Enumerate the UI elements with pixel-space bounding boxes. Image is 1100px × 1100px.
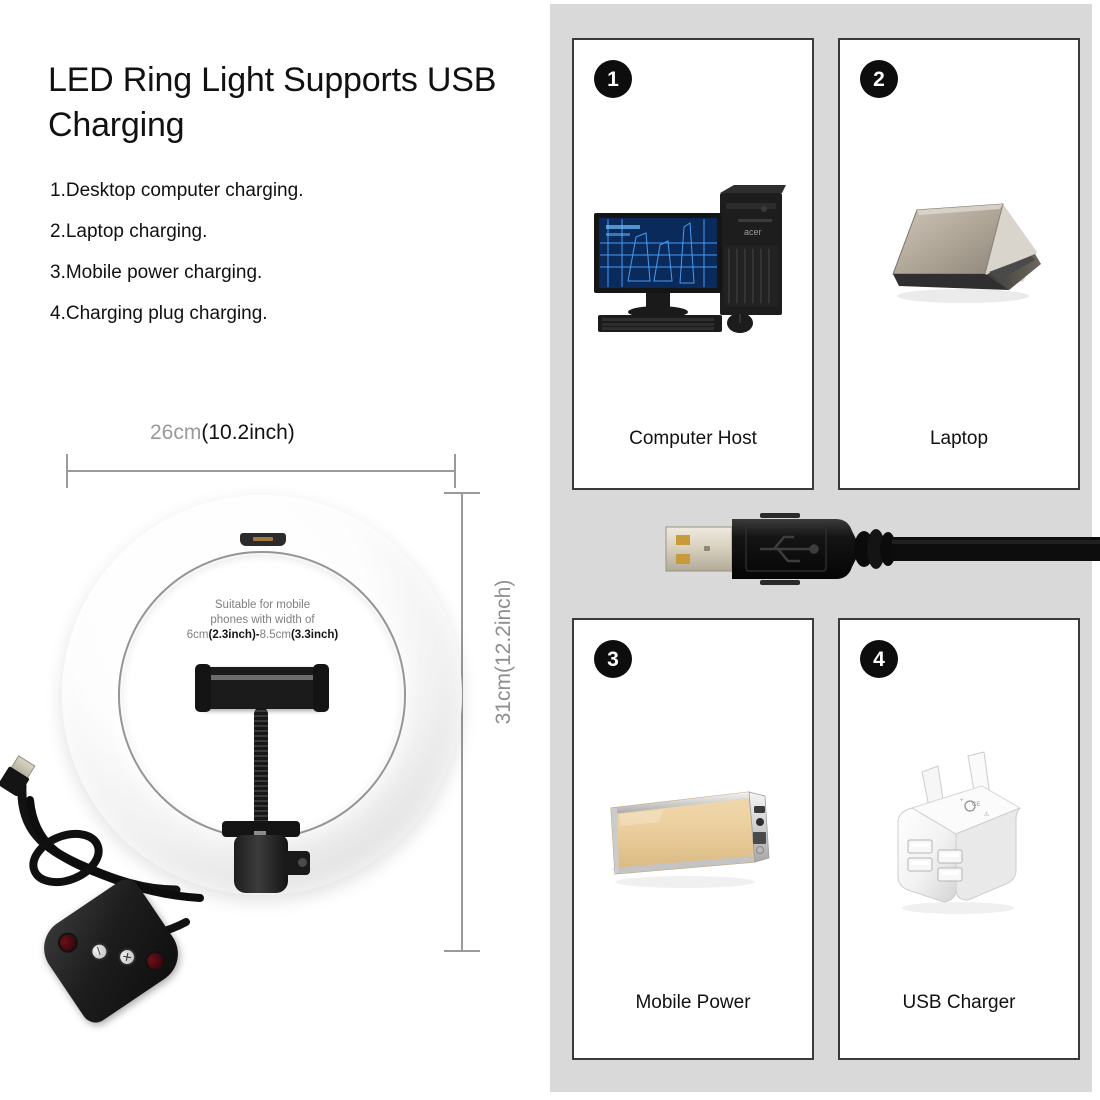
clamp-jaw-left xyxy=(195,664,211,712)
note-max-cm: 8.5cm xyxy=(260,629,291,641)
height-dimension-label: 31cm(12.2inch) xyxy=(492,567,516,737)
phone-width-note: Suitable for mobile phones with width of… xyxy=(160,598,365,643)
controller-color-button[interactable] xyxy=(141,947,169,975)
note-min-cm: 6cm xyxy=(187,629,209,641)
product-infographic: LED Ring Light Supports USB Charging 1.D… xyxy=(0,0,1100,1100)
list-item: 3.Mobile power charging. xyxy=(50,262,510,283)
card-label: Computer Host xyxy=(574,428,812,450)
ballhead-mount xyxy=(234,835,288,893)
desktop-computer-icon: acer xyxy=(574,110,812,400)
card-label: USB Charger xyxy=(840,992,1078,1014)
card-label: Laptop xyxy=(840,428,1078,450)
badge-number: 1 xyxy=(594,60,632,98)
controller-brightness-button[interactable]: / xyxy=(87,939,112,964)
width-tick-right xyxy=(454,454,456,488)
badge-number: 2 xyxy=(860,60,898,98)
accessories-panel: 1 acer xyxy=(550,4,1092,1092)
laptop-icon xyxy=(840,110,1078,400)
ring-top-connector-icon xyxy=(240,533,286,546)
badge-number: 4 xyxy=(860,640,898,678)
card-computer-host[interactable]: 1 acer xyxy=(572,38,814,490)
power-bank-icon xyxy=(574,690,812,980)
note-min-inch: (2.3inch) xyxy=(208,629,255,641)
controller-power-button[interactable] xyxy=(54,929,82,957)
svg-text:⚠: ⚠ xyxy=(984,811,990,818)
note-max-inch: (3.3inch) xyxy=(291,629,338,641)
page-title: LED Ring Light Supports USB Charging xyxy=(48,58,518,148)
gooseneck-arm xyxy=(254,707,268,827)
left-column: LED Ring Light Supports USB Charging 1.D… xyxy=(0,0,540,1100)
card-mobile-power[interactable]: 3 xyxy=(572,618,814,1060)
card-laptop[interactable]: 2 xyxy=(838,38,1080,490)
list-item: 1.Desktop computer charging. xyxy=(50,180,510,201)
width-inch-value: (10.2inch) xyxy=(201,421,294,444)
feature-list: 1.Desktop computer charging. 2.Laptop ch… xyxy=(50,180,510,344)
width-tick-left xyxy=(66,454,68,488)
svg-text:+: + xyxy=(960,798,964,804)
height-tick-bottom xyxy=(444,950,480,952)
width-cm-value: 26cm xyxy=(150,421,201,444)
ballhead-adjust-knob xyxy=(284,851,310,875)
brightness-icon: / xyxy=(90,942,109,961)
usb-cable-connector-icon xyxy=(660,509,1100,589)
controller-mode-button[interactable]: ✕ xyxy=(115,945,140,970)
width-dimension-line xyxy=(66,470,456,472)
phone-holder-clamp xyxy=(199,667,325,709)
clamp-jaw-right xyxy=(313,664,329,712)
card-label: Mobile Power xyxy=(574,992,812,1014)
svg-text:acer: acer xyxy=(744,227,762,237)
note-line-2: phones with width of xyxy=(210,614,314,626)
usb-wall-charger-icon: + CE ⚠ xyxy=(840,690,1078,980)
card-usb-charger[interactable]: 4 xyxy=(838,618,1080,1060)
width-dimension-label: 26cm(10.2inch) xyxy=(150,421,295,445)
mode-icon: ✕ xyxy=(117,947,136,966)
list-item: 2.Laptop charging. xyxy=(50,221,510,242)
badge-number: 3 xyxy=(594,640,632,678)
note-line-1: Suitable for mobile xyxy=(215,599,310,611)
list-item: 4.Charging plug charging. xyxy=(50,303,510,324)
height-tick-top xyxy=(444,492,480,494)
